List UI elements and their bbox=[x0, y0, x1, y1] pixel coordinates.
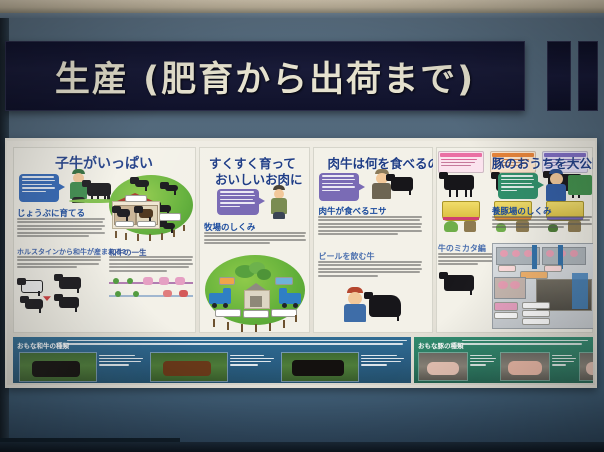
cattle-photo-2 bbox=[150, 352, 228, 382]
banner-side-strip-2 bbox=[578, 41, 598, 111]
speech-bubble-pigs bbox=[498, 173, 538, 199]
feed-stage-1-header bbox=[438, 151, 484, 173]
pasture-cow-2 bbox=[165, 185, 178, 191]
feed-trough-1 bbox=[442, 201, 480, 221]
pasture-label-tag bbox=[159, 213, 181, 221]
timeline-node-5 bbox=[175, 277, 185, 285]
timeline-node-3 bbox=[143, 277, 153, 285]
panel-feed: 肉牛は何を食べるの? 肉牛が食べるエサ ビールを bbox=[313, 147, 432, 333]
mikata-cow bbox=[444, 275, 474, 291]
ceiling-shadow bbox=[0, 13, 604, 18]
feed-stage-1-cow bbox=[444, 175, 474, 190]
panel-growing-section-body bbox=[204, 232, 306, 246]
truck-right-wheel-2 bbox=[293, 303, 298, 308]
panel-calves: 子牛がいっぱい bbox=[13, 147, 196, 333]
wagyu-cow-3 bbox=[59, 297, 79, 308]
speech-bubble-feed bbox=[319, 173, 359, 201]
speech-bubble-growing bbox=[217, 189, 259, 215]
timeline-node-1 bbox=[113, 278, 119, 284]
cow-illustration-feed bbox=[391, 177, 413, 191]
pig-barn-mini-illustration bbox=[568, 175, 592, 195]
banner-side-strip-1 bbox=[547, 41, 571, 111]
timeline2-node-1 bbox=[115, 291, 121, 297]
cattle-breeds-strip: おもな和牛の種類 bbox=[13, 337, 411, 383]
farm-caption-2 bbox=[243, 310, 269, 318]
barn-cow-right bbox=[139, 209, 153, 218]
farm-barn-door bbox=[250, 296, 262, 307]
timeline2-node-4 bbox=[179, 290, 188, 297]
wagyu-cow-2 bbox=[25, 299, 43, 309]
poster-panel-row: 子牛がいっぱい bbox=[13, 147, 593, 333]
pig-photo-1-caption bbox=[470, 355, 496, 367]
farmer-illustration-2 bbox=[269, 185, 291, 219]
exhibit-title-banner: 生産 (肥育から出荷まで) bbox=[5, 41, 525, 111]
pasture-cow-4 bbox=[163, 223, 175, 229]
exhibit-poster-board: 子牛がいっぱい bbox=[5, 138, 597, 388]
farm-tag-right bbox=[275, 277, 293, 285]
ceiling-strip bbox=[0, 0, 604, 13]
pen-label-1 bbox=[498, 265, 516, 272]
speech-bubble-tail-4 bbox=[537, 181, 544, 189]
holstein-cow-1 bbox=[21, 280, 43, 293]
calf-illustration bbox=[87, 183, 111, 196]
feed-item-grass-1 bbox=[444, 221, 458, 232]
panel-pigs-title: 豚のおうちを大公開! bbox=[492, 153, 593, 172]
stall-caption-right bbox=[137, 221, 156, 227]
facility-post-1 bbox=[532, 245, 537, 269]
pasture-cow-1 bbox=[135, 180, 149, 187]
facility-caption-4 bbox=[522, 310, 550, 317]
pig-breeds-strip: おもな豚の種類 bbox=[414, 337, 593, 383]
panel-feed-section-1-body bbox=[318, 216, 422, 237]
pig-pen-row-3 bbox=[494, 277, 526, 299]
panel-pigs: 牛のミカタ編 豚のおうちを大公開! bbox=[436, 147, 593, 333]
facility-caption-1 bbox=[494, 302, 518, 311]
truck-left-wheel-1 bbox=[212, 303, 217, 308]
cattle-photo-1 bbox=[19, 352, 97, 382]
cattle-breeds-intro bbox=[67, 340, 407, 347]
arrow-down-icon bbox=[43, 293, 51, 301]
timeline2-node-3 bbox=[163, 290, 172, 297]
farm-tag-left bbox=[219, 277, 235, 285]
facility-blue-section bbox=[572, 273, 588, 309]
cattle-photo-3 bbox=[281, 352, 359, 382]
cattle-photo-2-caption bbox=[230, 355, 274, 367]
pig-photo-3 bbox=[579, 352, 593, 381]
barn-label-tag bbox=[125, 195, 147, 202]
cattle-photo-3-caption bbox=[361, 355, 405, 367]
cattle-breeds-heading: おもな和牛の種類 bbox=[17, 340, 69, 350]
timeline-node-2 bbox=[127, 278, 133, 284]
pig-photo-1 bbox=[418, 352, 468, 381]
timeline2-node-2 bbox=[133, 291, 139, 297]
facility-caption-3 bbox=[522, 302, 550, 309]
exhibit-photograph: 生産 (肥育から出荷まで) 子牛がいっぱい bbox=[0, 0, 604, 452]
pig-photo-2-caption bbox=[552, 355, 576, 367]
wagyu-cow-1 bbox=[59, 277, 81, 289]
panel-growing: すくすく育って おいしいお肉に 牧場のしくみ bbox=[199, 147, 310, 333]
exhibit-title-text: 生産 (肥育から出荷まで) bbox=[55, 51, 475, 102]
farm-caption-1 bbox=[215, 309, 241, 317]
facility-caption-5 bbox=[522, 318, 550, 325]
farm-caption-3 bbox=[271, 309, 297, 317]
pig-photo-2 bbox=[500, 352, 550, 381]
panel-pigs-section-body bbox=[492, 216, 592, 230]
truck-left-wheel-2 bbox=[223, 303, 228, 308]
pig-breeds-heading: おもな豚の種類 bbox=[418, 340, 464, 350]
truck-right-wheel-1 bbox=[282, 303, 287, 308]
facility-caption-2 bbox=[494, 312, 518, 319]
large-cow-silhouette bbox=[369, 295, 401, 317]
panel-feed-section-3-body bbox=[438, 253, 494, 267]
panel-calves-section-3-body bbox=[109, 256, 193, 273]
speech-bubble-tail-2 bbox=[258, 197, 265, 205]
speech-bubble-tail bbox=[58, 183, 65, 191]
tree-3 bbox=[257, 269, 271, 280]
poster-surface: 子牛がいっぱい bbox=[7, 141, 595, 385]
pig-breeds-intro bbox=[462, 340, 588, 347]
pig-farmer-illustration bbox=[546, 169, 568, 201]
panel-calves-section-1-body bbox=[17, 218, 105, 239]
feed-item-pellet-1 bbox=[464, 221, 476, 232]
stall-caption-left bbox=[115, 221, 134, 227]
speech-bubble-calves bbox=[19, 174, 59, 202]
floor-edge bbox=[0, 442, 604, 452]
panel-calves-section-2-body bbox=[17, 256, 101, 270]
cattle-photo-1-caption bbox=[99, 355, 143, 367]
timeline-node-4 bbox=[159, 277, 169, 285]
barn-cow-left bbox=[117, 209, 130, 217]
speech-bubble-tail-3 bbox=[358, 183, 365, 191]
panel-feed-section-2-body bbox=[318, 261, 422, 278]
